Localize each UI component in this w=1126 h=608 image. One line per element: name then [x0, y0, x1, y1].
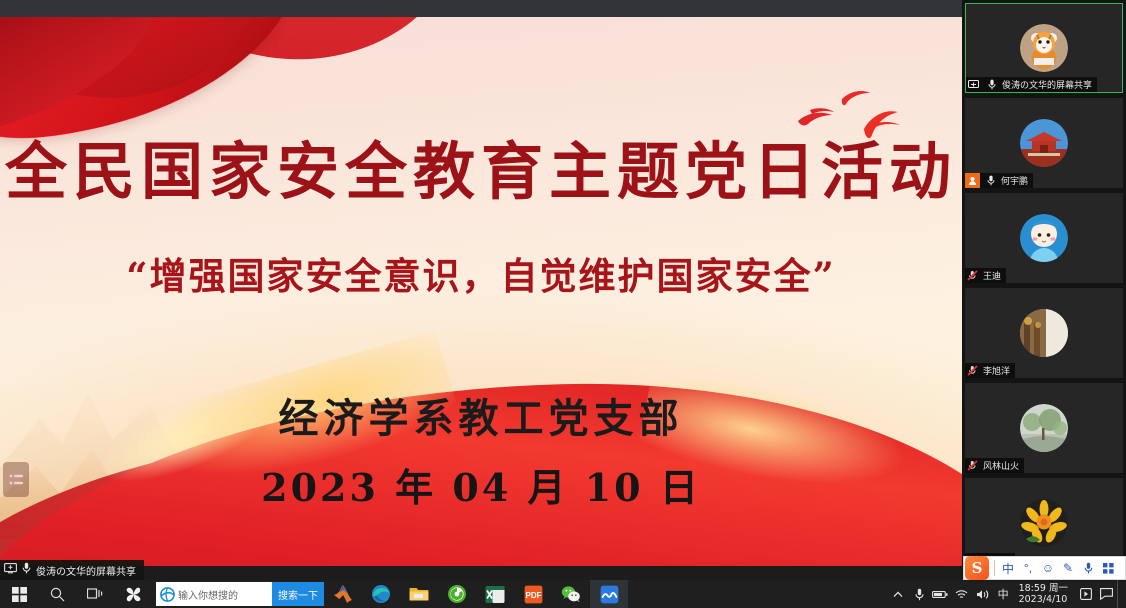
wechat-icon[interactable]: [552, 580, 590, 608]
tencent-meeting-icon-glyph: [600, 585, 619, 604]
windows-start-icon[interactable]: [0, 580, 38, 608]
wifi-icon[interactable]: [951, 580, 972, 608]
shared-screen-area: 全民国家安全教育主题党日活动 “增强国家安全意识，自觉维护国家安全” 经济学系教…: [0, 0, 962, 566]
slide-date: 2023 年 04 月 10 日: [0, 457, 962, 512]
clock-time: 18:59 周一: [1019, 583, 1068, 594]
pinwheel-icon-glyph: [125, 586, 142, 603]
excel-icon-glyph: [485, 585, 505, 604]
action-center-icon-glyph: [1100, 588, 1113, 600]
handwriting-icon[interactable]: ✎: [1058, 561, 1078, 575]
landscape-photo-avatar: [1020, 404, 1068, 452]
tiger-cartoon-avatar: [1020, 24, 1068, 72]
tiger-cartoon-avatar-glyph: [1020, 24, 1068, 72]
microphone-icon-glyph: [22, 562, 31, 574]
microphone-icon[interactable]: [909, 580, 930, 608]
search-input-placeholder: 输入你想搜的: [178, 587, 272, 602]
participant-tile[interactable]: 王迪: [965, 193, 1123, 283]
voice-input-icon[interactable]: [1078, 562, 1098, 574]
sogou-logo-icon[interactable]: S: [965, 556, 989, 580]
shared-window-topbar: [0, 0, 962, 17]
tencent-meeting-icon[interactable]: [590, 580, 628, 608]
participant-name: 风林山火: [983, 459, 1019, 472]
slide-organization: 经济学系教工党支部: [0, 386, 962, 444]
search-input[interactable]: 输入你想搜的 搜索一下: [156, 582, 324, 606]
ime-separator: [994, 560, 995, 576]
participant-tile[interactable]: 风林山火: [965, 383, 1123, 473]
360-browser-icon[interactable]: [438, 580, 476, 608]
participant-tile[interactable]: 何宇鹏: [965, 98, 1123, 188]
presentation-slide[interactable]: 全民国家安全教育主题党日活动 “增强国家安全意识，自觉维护国家安全” 经济学系教…: [0, 17, 962, 566]
wechat-icon-glyph: [561, 585, 581, 603]
chinese-mode-icon[interactable]: 中: [998, 560, 1018, 577]
internet-explorer-icon: [156, 587, 178, 602]
file-explorer-icon-glyph: [409, 585, 429, 603]
participant-name-strip: 王迪: [965, 268, 1006, 283]
toolbox-icon-glyph: [1103, 563, 1114, 574]
svg-text:PDF: PDF: [525, 591, 541, 600]
edge-icon[interactable]: [362, 580, 400, 608]
girl-cartoon-avatar-glyph: [1020, 214, 1068, 262]
windows-taskbar: 输入你想搜的 搜索一下: [0, 580, 1126, 608]
battery-icon[interactable]: [930, 580, 951, 608]
speaker-icon-glyph: [976, 589, 989, 600]
voice-input-icon-glyph: [1084, 562, 1093, 574]
microphone-muted-icon: [965, 268, 980, 283]
edge-icon-glyph: [371, 584, 391, 604]
microphone-muted-icon-glyph: [967, 460, 978, 471]
search-icon[interactable]: [38, 580, 76, 608]
microphone-icon: [22, 561, 31, 579]
interior-photo-avatar-glyph: [1020, 309, 1068, 357]
list-icon-glyph: [9, 472, 24, 488]
search-submit-button[interactable]: 搜索一下: [272, 582, 324, 606]
microphone-on-icon: [983, 173, 998, 188]
participant-name-strip: 李旭洋: [965, 363, 1015, 378]
microphone-muted-icon-glyph: [967, 270, 978, 281]
temple-photo-avatar: [1020, 119, 1068, 167]
participant-name-strip: 何宇鹏: [965, 173, 1033, 188]
participant-name-strip: 俊涛の文华的屏幕共享: [966, 77, 1097, 92]
toolbox-icon[interactable]: [1098, 563, 1118, 574]
participant-name: 李旭洋: [983, 364, 1010, 377]
taskbar-clock[interactable]: 18:59 周一 2023/4/10: [1014, 583, 1075, 605]
participant-name: 王迪: [983, 269, 1001, 282]
yellow-flower-avatar-glyph: [1020, 499, 1068, 547]
list-icon[interactable]: [3, 462, 29, 497]
show-hidden-icons-icon-glyph: [893, 591, 903, 598]
tray-app-icon-glyph: [1080, 588, 1092, 600]
show-desktop-button[interactable]: [1117, 580, 1124, 608]
participant-video-panel: 俊涛の文华的屏幕共享: [962, 0, 1126, 566]
battery-icon-glyph: [932, 590, 948, 599]
participant-icon-glyph: [968, 176, 977, 185]
task-view-icon[interactable]: [76, 580, 114, 608]
slide-subtitle: “增强国家安全意识，自觉维护国家安全”: [0, 246, 962, 300]
clock-date: 2023/4/10: [1019, 594, 1068, 605]
task-view-icon-glyph: [87, 587, 103, 601]
microphone-muted-icon-glyph: [967, 365, 978, 376]
punctuation-icon[interactable]: °,: [1018, 561, 1038, 575]
excel-icon[interactable]: [476, 580, 514, 608]
sogou-ime-toolbar[interactable]: S 中 °, ☺ ✎: [963, 556, 1126, 580]
participant-name-strip: 风林山火: [965, 458, 1024, 473]
search-icon-glyph: [50, 587, 65, 602]
screen-share-indicator-label: 俊涛の文华的屏幕共享: [36, 563, 136, 578]
microphone-muted-icon: [965, 363, 980, 378]
pdf-icon[interactable]: PDF: [514, 580, 552, 608]
microphone-muted-icon: [965, 458, 980, 473]
tray-microphone-icon-glyph: [915, 588, 924, 601]
microphone-on-icon: [984, 77, 999, 92]
monitor-icon: [4, 561, 17, 579]
360-browser-icon-glyph: [447, 584, 467, 604]
ime-indicator-icon[interactable]: 中: [993, 580, 1014, 608]
desktop-screen: 全民国家安全教育主题党日活动 “增强国家安全意识，自觉维护国家安全” 经济学系教…: [0, 0, 1126, 608]
participant-name: 何宇鹏: [1001, 174, 1028, 187]
monitor-icon-glyph: [4, 563, 17, 574]
participant-tile[interactable]: 迟建华: [965, 478, 1123, 568]
slide-title: 全民国家安全教育主题党日活动: [0, 121, 962, 211]
emoji-icon[interactable]: ☺: [1038, 561, 1058, 575]
pinwheel-icon[interactable]: [114, 580, 152, 608]
participant-icon: [965, 173, 980, 188]
system-tray: 中 18:59 周一 2023/4/10: [888, 580, 1126, 608]
internet-explorer-icon-glyph: [160, 587, 175, 602]
screen-share-indicator[interactable]: 俊涛の文华的屏幕共享: [0, 560, 144, 580]
speaker-icon[interactable]: [972, 580, 993, 608]
participant-tile[interactable]: 李旭洋: [965, 288, 1123, 378]
action-center-icon[interactable]: [1096, 580, 1117, 608]
tray-app-icon[interactable]: [1075, 580, 1096, 608]
screen-share-icon: [966, 77, 981, 92]
pdf-icon-glyph: PDF: [524, 585, 543, 604]
matlab-icon[interactable]: [324, 580, 362, 608]
participant-tile[interactable]: 俊涛の文华的屏幕共享: [965, 3, 1123, 93]
matlab-icon-glyph: [333, 584, 353, 604]
girl-cartoon-avatar: [1020, 214, 1068, 262]
file-explorer-icon[interactable]: [400, 580, 438, 608]
show-hidden-icons-icon[interactable]: [888, 580, 909, 608]
microphone-on-icon-glyph: [988, 79, 996, 90]
temple-photo-avatar-glyph: [1020, 119, 1068, 167]
participant-name: 俊涛の文华的屏幕共享: [1002, 78, 1092, 91]
screen-share-icon-glyph: [968, 80, 979, 89]
landscape-photo-avatar-glyph: [1020, 404, 1068, 452]
wifi-icon-glyph: [955, 589, 968, 600]
yellow-flower-avatar: [1020, 499, 1068, 547]
microphone-on-icon-glyph: [987, 175, 995, 186]
windows-start-icon-glyph: [12, 587, 27, 602]
interior-photo-avatar: [1020, 309, 1068, 357]
